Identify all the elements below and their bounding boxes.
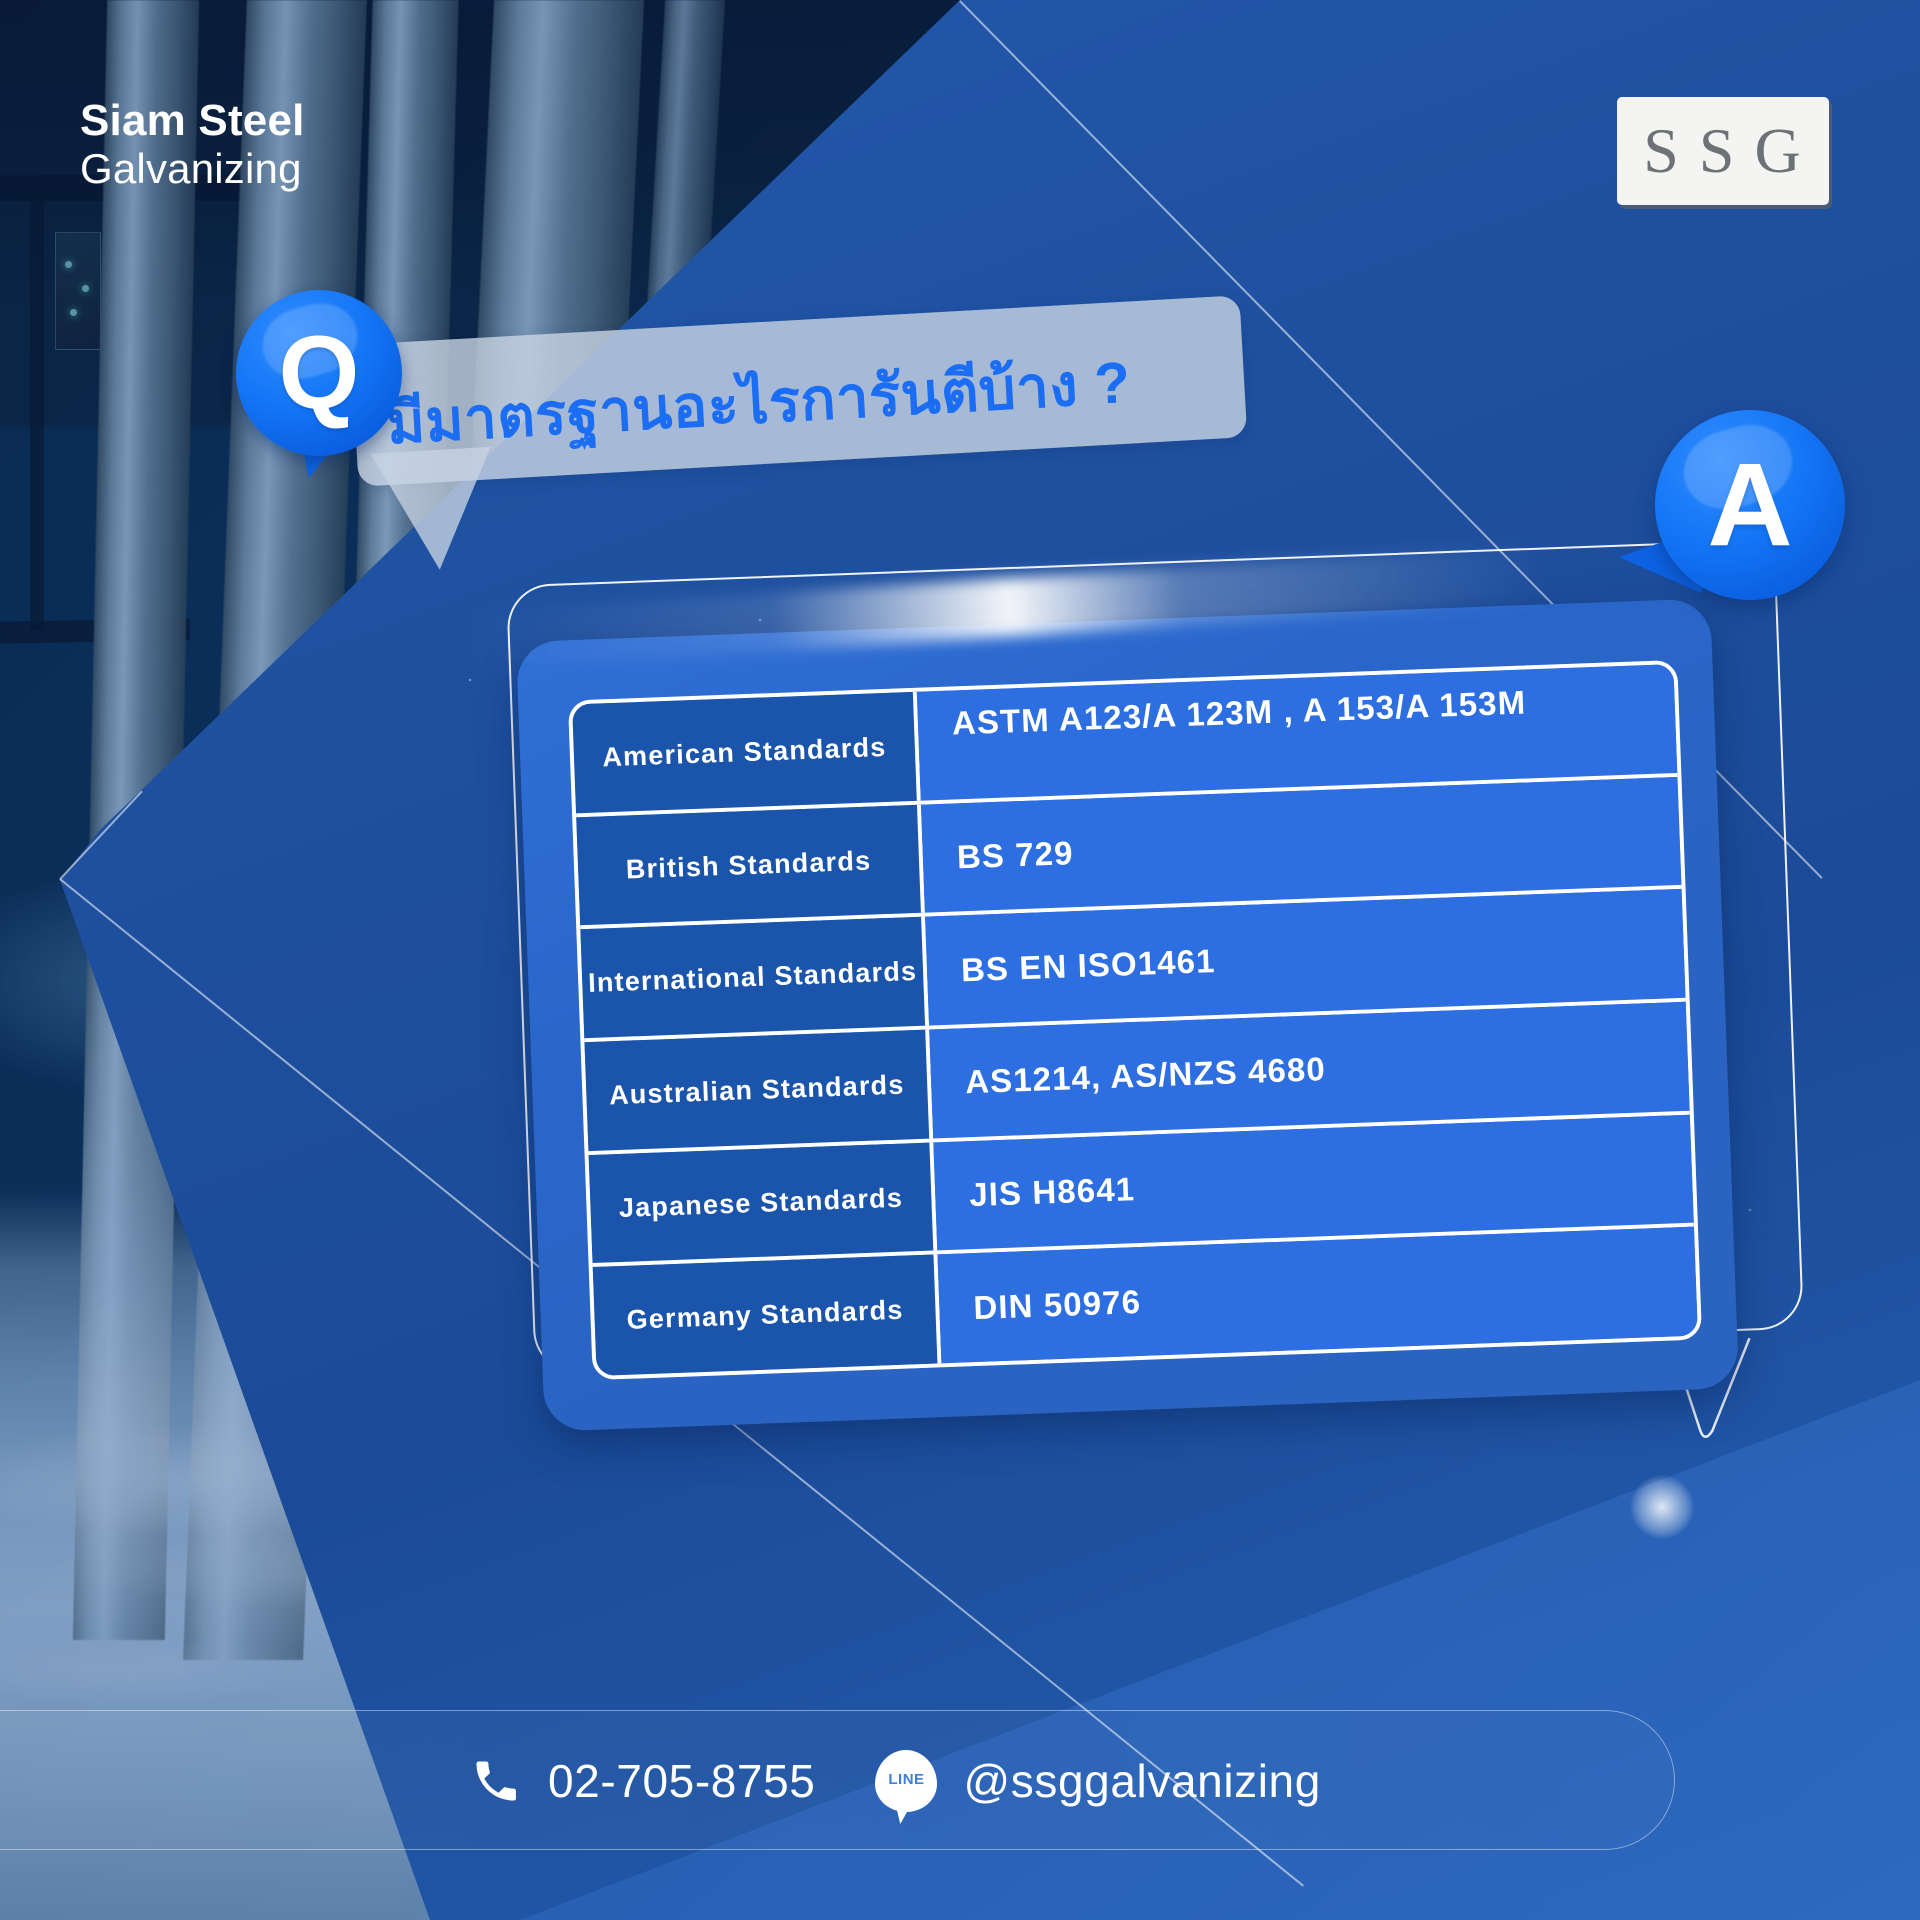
question-badge-letter: Q [236, 290, 402, 456]
table-value-text: AS1214, AS/NZS 4680 [964, 1050, 1326, 1101]
phone-number: 02-705-8755 [548, 1754, 815, 1808]
line-icon: LINE [875, 1750, 937, 1812]
line-contact[interactable]: LINE @ssggalvanizing [875, 1750, 1320, 1812]
brand-line-1: Siam Steel [80, 96, 305, 145]
table-label-text: International Standards [588, 956, 918, 999]
table-label-text: British Standards [625, 845, 871, 885]
table-value-text: DIN 50976 [973, 1283, 1142, 1327]
table-label-text: American Standards [602, 732, 887, 773]
table-cell-label: International Standards [580, 917, 929, 1038]
table-value-text: ASTM A123/A 123M , A 153/A 153M [951, 683, 1527, 742]
table-label-text: Japanese Standards [618, 1182, 903, 1223]
table-cell-value: DIN 50976 [937, 1227, 1697, 1363]
ssg-logo: S S G [1617, 97, 1829, 205]
phone-contact[interactable]: 02-705-8755 [470, 1754, 815, 1808]
answer-badge-letter: A [1655, 410, 1845, 600]
table-cell-label: British Standards [576, 804, 925, 925]
logo-letter-s1: S [1643, 114, 1681, 188]
table-label-text: Germany Standards [626, 1295, 904, 1336]
line-icon-label: LINE [888, 1771, 924, 1788]
table-cell-label: Germany Standards [593, 1255, 942, 1376]
table-value-text: BS EN ISO1461 [960, 942, 1216, 989]
table-cell-label: Japanese Standards [589, 1142, 938, 1263]
logo-letter-s2: S [1699, 114, 1737, 188]
logo-letter-g: G [1754, 114, 1802, 188]
footer-contact-row: 02-705-8755 LINE @ssggalvanizing [470, 1748, 1321, 1814]
bokeh-dot [1630, 1475, 1694, 1539]
table-cell-label: Australian Standards [584, 1030, 933, 1151]
table-label-text: Australian Standards [609, 1069, 906, 1111]
phone-icon [470, 1755, 522, 1807]
standards-table: American Standards ASTM A123/A 123M , A … [568, 660, 1702, 1380]
line-id: @ssggalvanizing [963, 1754, 1320, 1808]
question-block: มีมาตรฐานอะไรการันตีบ้าง ? Q [236, 290, 1246, 580]
brand-line-2: Galvanizing [80, 145, 305, 192]
table-value-text: JIS H8641 [969, 1170, 1136, 1214]
table-value-text: BS 729 [956, 834, 1074, 876]
table-cell-label: American Standards [572, 692, 921, 813]
brand-lockup: Siam Steel Galvanizing [80, 96, 305, 192]
answer-block: A [1655, 410, 1885, 640]
